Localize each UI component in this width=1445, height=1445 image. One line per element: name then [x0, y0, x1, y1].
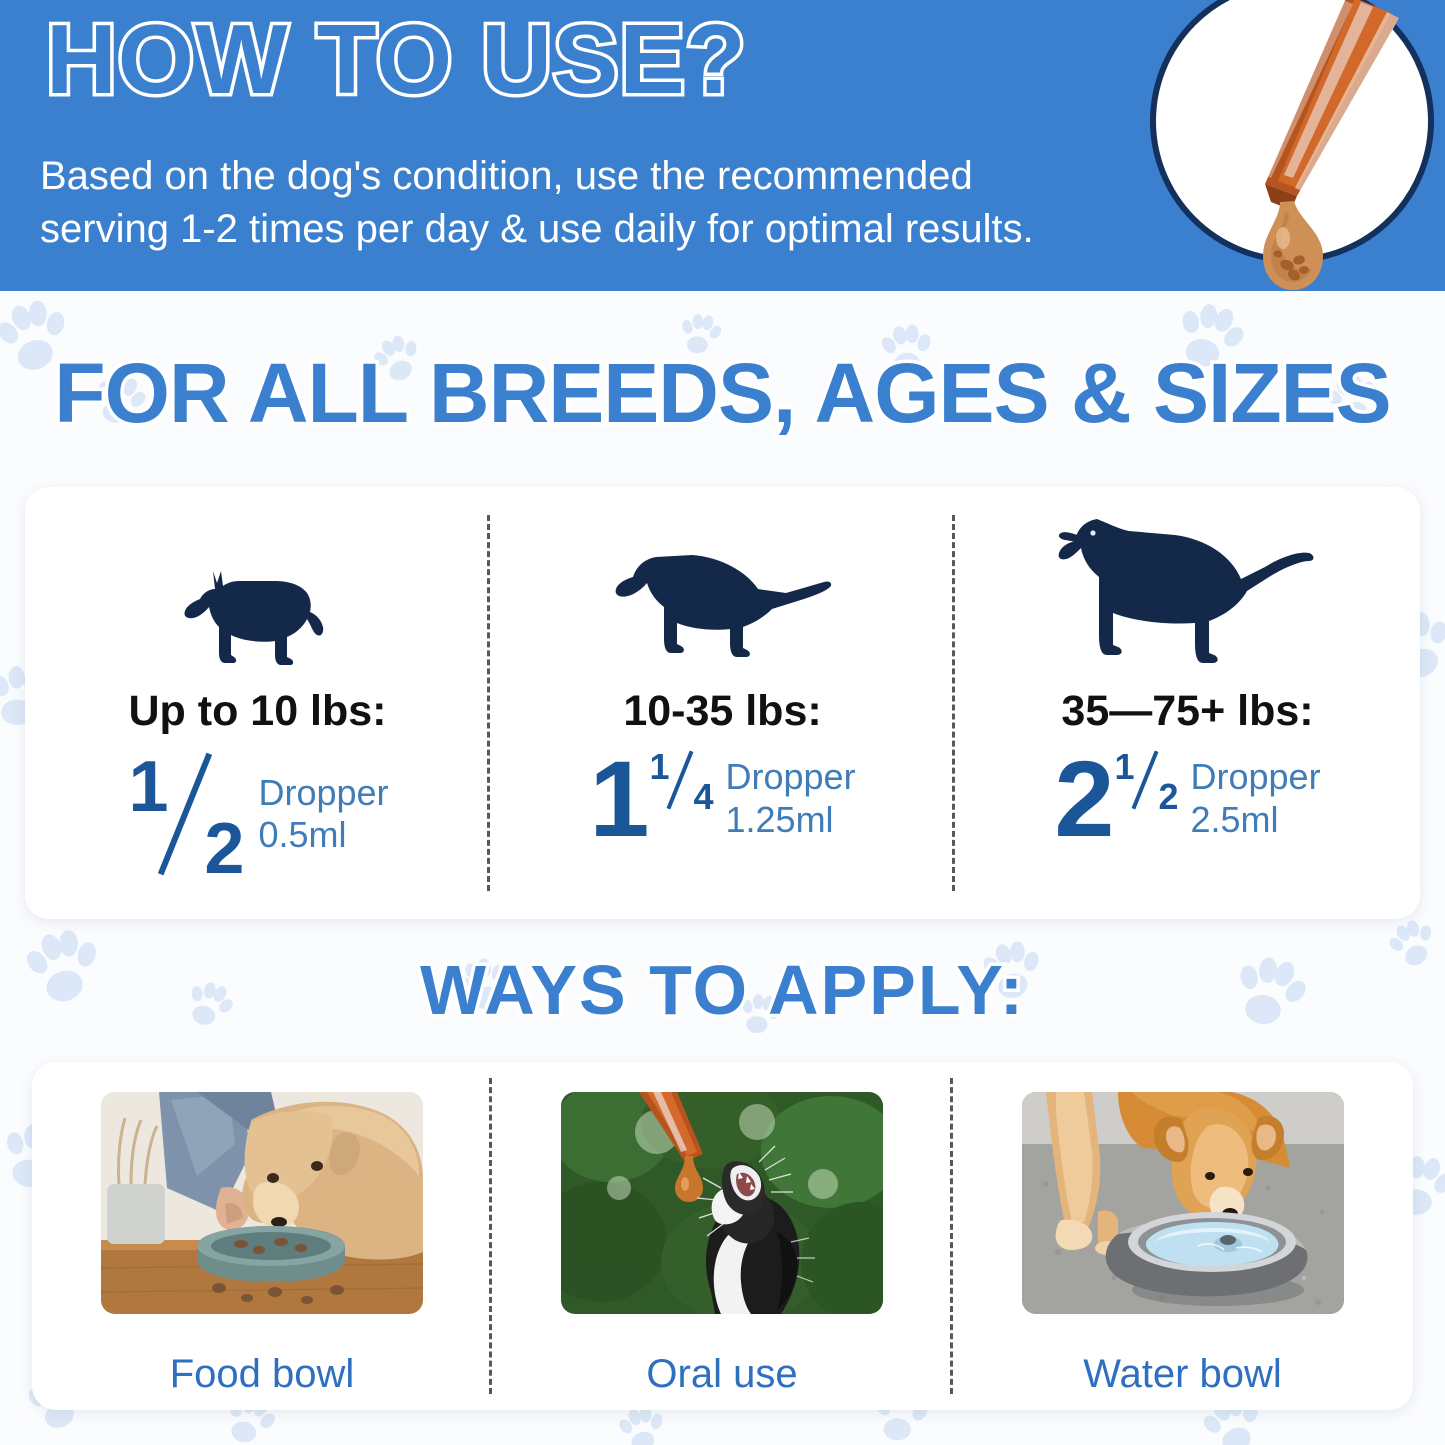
dose-description-small: Dropper 0.5ml: [258, 772, 388, 857]
page-title: HOW TO USE?: [46, 8, 747, 111]
dose-amount-medium: 1 1 4 Dropper 1.25ml: [490, 749, 955, 848]
weight-label-medium: 10-35 lbs:: [490, 687, 955, 736]
breeds-section-heading: FOR ALL BREEDS, AGES & SIZES: [0, 345, 1445, 442]
fraction-one-quarter: 1 4: [650, 755, 712, 813]
dose-unit-small: Dropper: [258, 772, 388, 814]
small-dog-silhouette-icon: [25, 549, 490, 684]
header-subtitle: Based on the dog's condition, use the re…: [40, 150, 1130, 256]
apply-caption-oral-use: Oral use: [492, 1352, 952, 1397]
dose-description-large: Dropper 2.5ml: [1191, 756, 1321, 841]
dose-amount-small: 1 2 Dropper 0.5ml: [25, 755, 490, 873]
dog-eating-food-bowl-photo: [101, 1092, 423, 1314]
fraction-one-half: 1 2: [126, 755, 244, 873]
dose-whole-number-large: 2: [1054, 749, 1114, 848]
apply-caption-food-bowl: Food bowl: [32, 1352, 492, 1397]
weight-label-small: Up to 10 lbs:: [25, 687, 490, 736]
ways-to-apply-card: Food bowl: [32, 1062, 1413, 1410]
apply-caption-water-bowl: Water bowl: [952, 1352, 1413, 1397]
dog-drinking-water-bowl-photo: [1022, 1092, 1344, 1314]
medium-dog-silhouette-icon: [490, 527, 955, 682]
dose-volume-medium: 1.25ml: [726, 799, 856, 841]
dog-oral-dropper-photo: [561, 1092, 883, 1314]
header-subtitle-line-1: Based on the dog's condition, use the re…: [40, 150, 1130, 203]
dose-volume-small: 0.5ml: [258, 814, 388, 856]
weight-label-large: 35—75+ lbs:: [955, 687, 1420, 736]
dosage-column-large: 35—75+ lbs: 2 1 2 Dropper 2.5ml: [955, 487, 1420, 919]
apply-column-oral-use: Oral use: [492, 1062, 952, 1410]
dose-whole-number-medium: 1: [589, 749, 649, 848]
dose-amount-large: 2 1 2 Dropper 2.5ml: [955, 749, 1420, 848]
dosage-card: Up to 10 lbs: 1 2 Dropper 0.5ml 10-35 lb…: [25, 487, 1420, 919]
dropper-drop-icon: [1147, 0, 1437, 328]
dose-description-medium: Dropper 1.25ml: [726, 756, 856, 841]
dosage-column-medium: 10-35 lbs: 1 1 4 Dropper 1.25ml: [490, 487, 955, 919]
header-subtitle-line-2: serving 1-2 times per day & use daily fo…: [40, 203, 1130, 256]
dose-unit-large: Dropper: [1191, 756, 1321, 798]
fraction-one-half-superscript: 1 2: [1115, 755, 1177, 813]
apply-section-heading: WAYS TO APPLY:: [0, 950, 1445, 1030]
dosage-column-small: Up to 10 lbs: 1 2 Dropper 0.5ml: [25, 487, 490, 919]
large-dog-silhouette-icon: [955, 495, 1420, 685]
dose-volume-large: 2.5ml: [1191, 799, 1321, 841]
apply-column-water-bowl: Water bowl: [952, 1062, 1413, 1410]
apply-column-food-bowl: Food bowl: [32, 1062, 492, 1410]
dose-unit-medium: Dropper: [726, 756, 856, 798]
